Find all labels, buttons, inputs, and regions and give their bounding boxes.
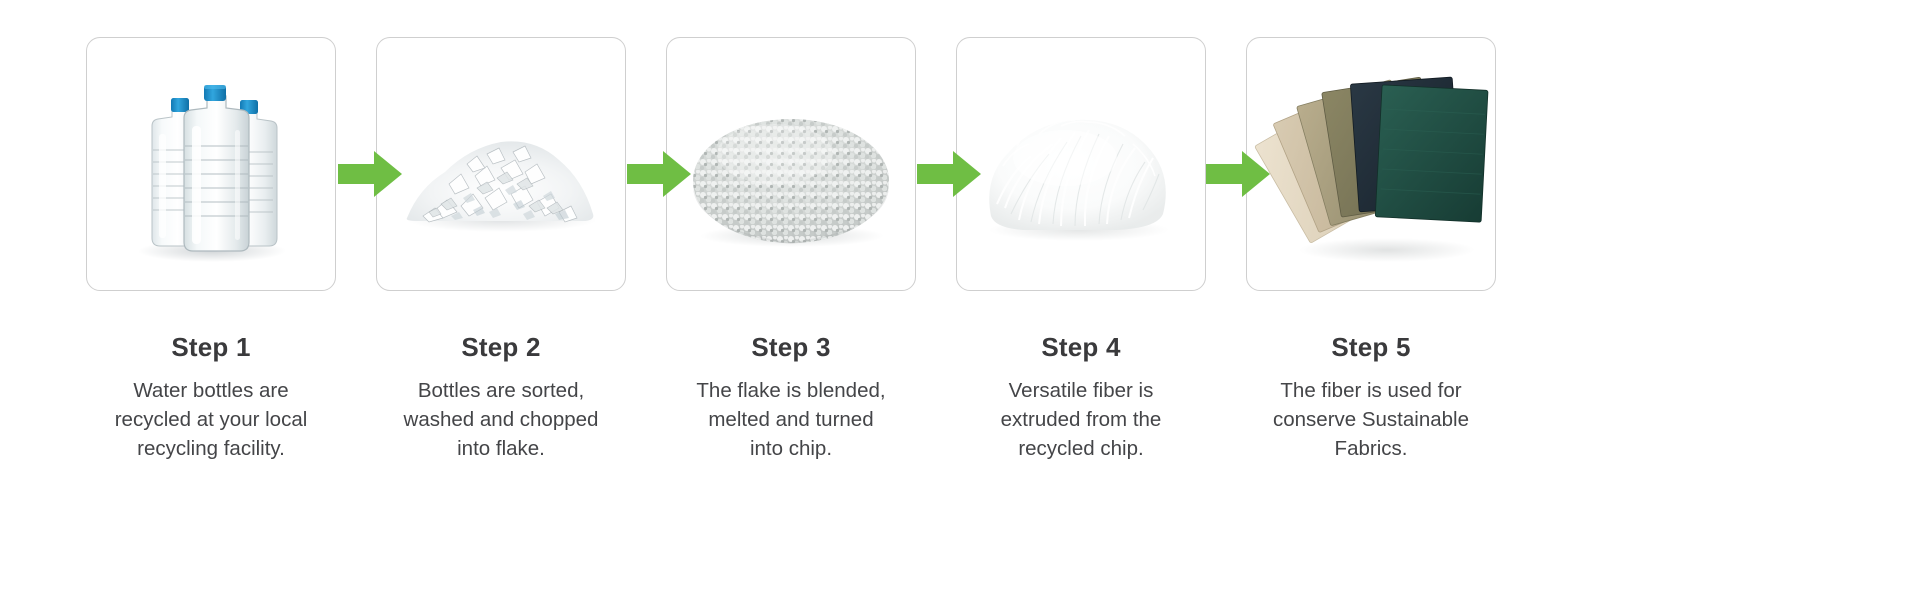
process-flow-infographic: Step 1 Water bottles are recycled at you… xyxy=(0,0,1918,613)
step-title: Step 2 xyxy=(461,333,540,362)
step-title: Step 5 xyxy=(1331,333,1410,362)
plastic-water-bottles-image xyxy=(87,38,335,290)
steps-row: Step 1 Water bottles are recycled at you… xyxy=(86,0,1496,613)
arrow-step2-to-step3 xyxy=(627,151,691,197)
step-card-3[interactable]: Step 3 The flake is blended, melted and … xyxy=(666,0,916,463)
fabric-swatches-fan-image xyxy=(1247,38,1495,290)
step-title: Step 4 xyxy=(1041,333,1120,362)
step-card-5[interactable]: Step 5 The fiber is used for conserve Su… xyxy=(1246,0,1496,463)
step-description: The fiber is used for conserve Sustainab… xyxy=(1253,376,1489,463)
step-3-image-card xyxy=(666,37,916,291)
step-title: Step 3 xyxy=(751,333,830,362)
plastic-flake-pile-image xyxy=(377,38,625,290)
white-fiber-tuft-image xyxy=(957,38,1205,290)
step-card-1[interactable]: Step 1 Water bottles are recycled at you… xyxy=(86,0,336,463)
arrow-step3-to-step4 xyxy=(917,151,981,197)
step-description: Versatile fiber is extruded from the rec… xyxy=(963,376,1199,463)
arrow-step4-to-step5 xyxy=(1206,151,1270,197)
step-2-image-card xyxy=(376,37,626,291)
step-4-image-card xyxy=(956,37,1206,291)
step-5-image-card xyxy=(1246,37,1496,291)
arrow-step1-to-step2 xyxy=(338,151,402,197)
step-card-4[interactable]: Step 4 Versatile fiber is extruded from … xyxy=(956,0,1206,463)
plastic-chip-pellets-image xyxy=(667,38,915,290)
step-description: Bottles are sorted, washed and chopped i… xyxy=(383,376,619,463)
step-description: The flake is blended, melted and turned … xyxy=(673,376,909,463)
step-card-2[interactable]: Step 2 Bottles are sorted, washed and ch… xyxy=(376,0,626,463)
step-title: Step 1 xyxy=(171,333,250,362)
step-1-image-card xyxy=(86,37,336,291)
step-description: Water bottles are recycled at your local… xyxy=(93,376,329,463)
